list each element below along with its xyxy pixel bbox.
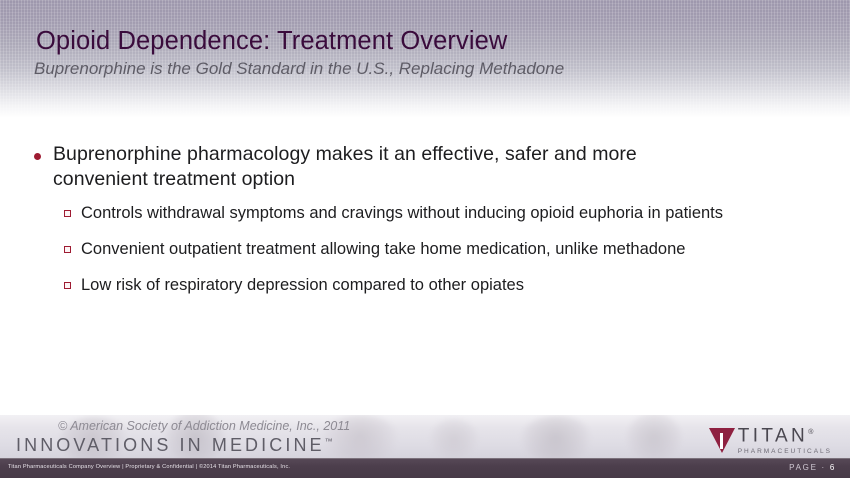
trademark-icon: ™ — [325, 437, 333, 446]
registered-icon: ® — [808, 429, 813, 436]
slide-footer-band: © American Society of Addiction Medicine… — [0, 415, 850, 458]
slide-content-area: Buprenorphine pharmacology makes it an e… — [0, 118, 850, 415]
titan-logo-subtitle: PHARMACEUTICALS — [738, 447, 832, 456]
page-title: Opioid Dependence: Treatment Overview — [36, 26, 507, 56]
list-item: Low risk of respiratory depression compa… — [64, 274, 769, 296]
page-subtitle: Buprenorphine is the Gold Standard in th… — [34, 58, 564, 80]
sub-bullet-list: Controls withdrawal symptoms and craving… — [64, 202, 769, 310]
bullet-square-icon — [64, 210, 71, 217]
page-number-value: 6 — [830, 463, 836, 472]
titan-logo-name: TITAN® — [738, 423, 832, 446]
footer-photo-ghost — [520, 416, 594, 458]
slide-bottom-bar: Titan Pharmaceuticals Company Overview |… — [0, 458, 850, 478]
sub-bullet-text: Controls withdrawal symptoms and craving… — [81, 202, 723, 224]
footer-photo-ghost — [626, 415, 682, 458]
titan-triangle-icon — [709, 426, 735, 454]
titan-logo-wordmark: TITAN® PHARMACEUTICALS — [738, 423, 832, 456]
bullet-dot-icon — [34, 153, 41, 160]
main-bullet-text: Buprenorphine pharmacology makes it an e… — [53, 142, 734, 192]
titan-logo-name-text: TITAN — [738, 425, 808, 446]
bullet-square-icon — [64, 246, 71, 253]
titan-logo: TITAN® PHARMACEUTICALS — [709, 423, 832, 456]
page-number: PAGE · 6 — [789, 462, 836, 473]
footer-tagline: INNOVATIONS IN MEDICINE™ — [16, 432, 333, 455]
footer-tagline-text: INNOVATIONS IN MEDICINE — [16, 435, 325, 455]
sub-bullet-text: Convenient outpatient treatment allowing… — [81, 238, 685, 260]
sub-bullet-text: Low risk of respiratory depression compa… — [81, 274, 524, 296]
page-number-label: PAGE · — [789, 463, 826, 472]
source-citation: © American Society of Addiction Medicine… — [58, 419, 350, 434]
main-bullet-item: Buprenorphine pharmacology makes it an e… — [34, 142, 734, 192]
bullet-square-icon — [64, 282, 71, 289]
list-item: Convenient outpatient treatment allowing… — [64, 238, 769, 260]
slide-canvas: Opioid Dependence: Treatment Overview Bu… — [0, 0, 850, 478]
copyright-notice: Titan Pharmaceuticals Company Overview |… — [8, 463, 290, 472]
list-item: Controls withdrawal symptoms and craving… — [64, 202, 769, 224]
footer-photo-ghost — [430, 419, 478, 458]
